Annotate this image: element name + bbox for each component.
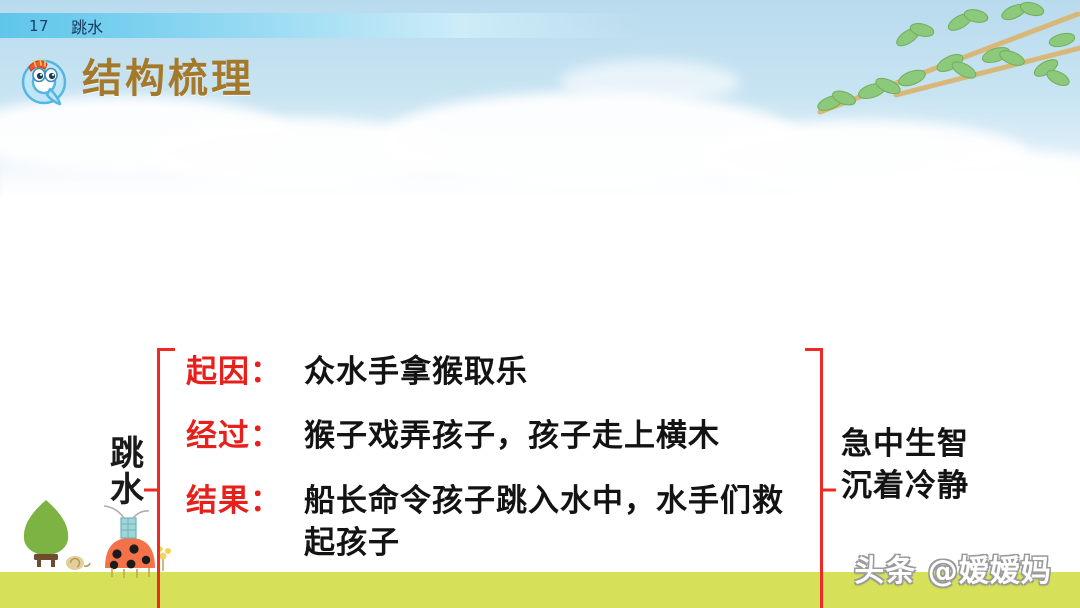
diagram-rows: 起因： 众水手拿猴取乐 经过： 猴子戏弄孩子，孩子走上横木 结果： 船长命令孩子… xyxy=(186,348,798,564)
lesson-title: 跳水 xyxy=(71,14,103,38)
section-heading: 结构梳理 xyxy=(0,50,560,108)
row-text-process: 猴子戏弄孩子，孩子走上横木 xyxy=(304,416,720,458)
snail-icon xyxy=(66,556,90,570)
row-text-cause: 众水手拿猴取乐 xyxy=(304,352,528,394)
structure-diagram: 跳 水 起因： 众水手拿猴取乐 经过： 猴子戏弄孩子，孩子走上横木 结果： 船长… xyxy=(0,168,1080,468)
lesson-number: 17 xyxy=(29,17,49,35)
lesson-title-bar: 17 跳水 xyxy=(0,13,640,38)
diagram-outcome: 急中生智 沉着冷静 xyxy=(841,423,969,507)
watermark-text: 头条 @嫒嫒妈 xyxy=(840,546,1066,590)
page-title: 结构梳理 xyxy=(82,59,254,99)
leafy-branch-icon xyxy=(800,0,1080,135)
watermark: 小学语数 头条 @嫒嫒妈 xyxy=(840,508,1066,594)
right-bracket xyxy=(805,348,823,608)
tree-icon xyxy=(24,500,68,567)
row-label-result: 结果： xyxy=(186,481,304,521)
outcome-line-1: 急中生智 xyxy=(841,423,969,465)
outcome-line-2: 沉着冷静 xyxy=(841,465,969,507)
row-text-result: 船长命令孩子跳入水中，水手们救起孩子 xyxy=(304,481,798,564)
row-label-cause: 起因： xyxy=(186,352,304,392)
diagram-root-label: 跳 水 xyxy=(96,436,158,508)
slide-canvas: 17 跳水 结构梳理 跳 水 起因： 众水手 xyxy=(0,0,1080,608)
diagram-row: 起因： 众水手拿猴取乐 xyxy=(186,352,798,394)
root-label-char-1: 跳 xyxy=(96,436,158,472)
blue-q-mascot-icon xyxy=(16,51,72,107)
diagram-row: 结果： 船长命令孩子跳入水中，水手们救起孩子 xyxy=(186,481,798,564)
row-label-process: 经过： xyxy=(186,416,304,456)
diagram-row: 经过： 猴子戏弄孩子，孩子走上横木 xyxy=(186,416,798,458)
left-bracket xyxy=(157,348,175,608)
